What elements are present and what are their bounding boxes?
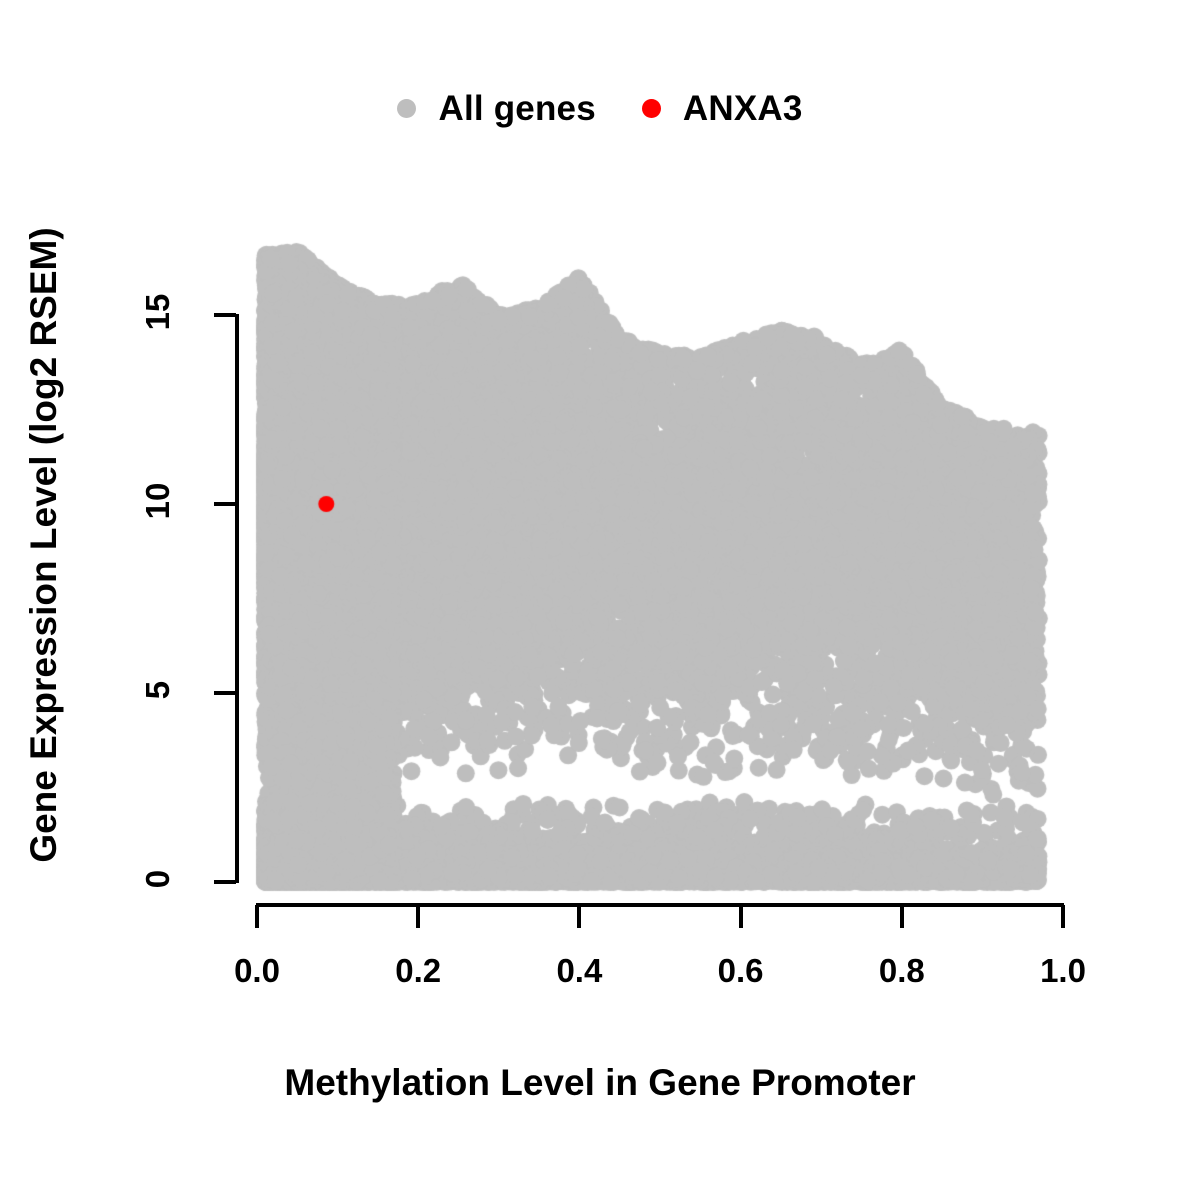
scatter-point-cloud: [0, 0, 1200, 1200]
x-tick-label-2: 0.4: [524, 952, 634, 990]
y-tick-label-3: 15: [139, 272, 177, 352]
y-tick-3: [214, 313, 236, 317]
x-tick-0: [255, 905, 259, 928]
x-tick-label-3: 0.6: [686, 952, 796, 990]
scatter-plot-figure: All genes ANXA3 0.00.20.40.60.81.0051015…: [0, 0, 1200, 1200]
x-axis-line: [256, 903, 1064, 907]
y-axis-title: Gene Expression Level (log2 RSEM): [15, 135, 73, 955]
x-tick-label-5: 1.0: [1008, 952, 1118, 990]
y-tick-1: [214, 691, 236, 695]
y-tick-2: [214, 502, 236, 506]
x-tick-2: [577, 905, 581, 928]
x-axis-title: Methylation Level in Gene Promoter: [0, 1062, 1200, 1104]
x-tick-3: [739, 905, 743, 928]
x-tick-5: [1061, 905, 1065, 928]
x-tick-label-4: 0.8: [847, 952, 957, 990]
y-tick-0: [214, 880, 236, 884]
y-tick-label-2: 10: [139, 461, 177, 541]
y-tick-label-0: 0: [139, 839, 177, 919]
y-axis-line: [235, 314, 239, 883]
x-tick-label-0: 0.0: [202, 952, 312, 990]
x-tick-label-1: 0.2: [363, 952, 473, 990]
x-tick-1: [416, 905, 420, 928]
x-tick-4: [900, 905, 904, 928]
y-tick-label-1: 5: [139, 650, 177, 730]
